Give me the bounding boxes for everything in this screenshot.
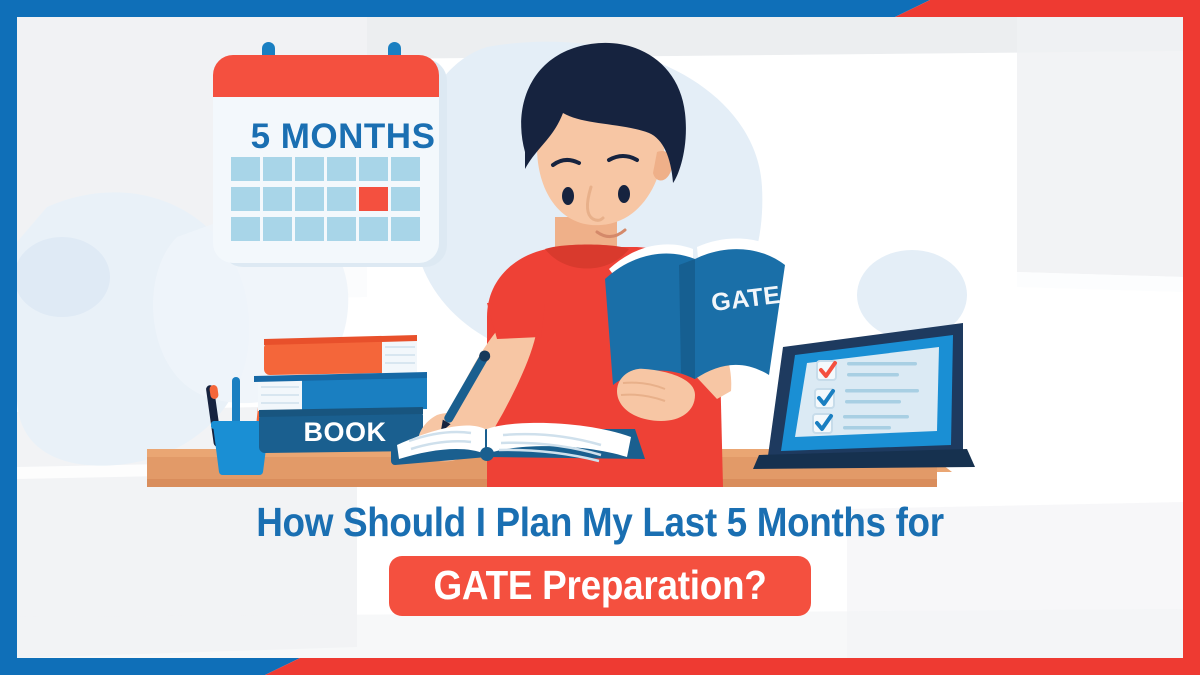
frame-bottom-blue bbox=[0, 658, 300, 675]
person-eye-right bbox=[618, 185, 630, 203]
calendar-highlight-cell bbox=[359, 187, 388, 211]
person-left-sleeve bbox=[487, 303, 545, 339]
hero-illustration bbox=[17, 17, 1183, 487]
headline-line-1: How Should I Plan My Last 5 Months for bbox=[75, 498, 1124, 546]
headline-block: How Should I Plan My Last 5 Months for G… bbox=[17, 498, 1183, 616]
frame-bottom-red bbox=[265, 658, 1200, 675]
frame-top-blue bbox=[0, 0, 930, 17]
banner-root: 5 MONTHS BOOK GATE How Should I Plan My … bbox=[0, 0, 1200, 675]
headline-line-2: GATE Preparation? bbox=[433, 563, 766, 607]
calendar-header bbox=[213, 55, 439, 97]
laptop bbox=[753, 323, 975, 469]
illustration-stage: 5 MONTHS BOOK GATE bbox=[17, 17, 1183, 487]
frame-left-blue bbox=[0, 0, 17, 675]
calendar-caption: 5 MONTHS bbox=[231, 117, 455, 157]
person-eye-left bbox=[562, 187, 574, 205]
headline-badge: GATE Preparation? bbox=[389, 556, 811, 616]
frame-top-red bbox=[895, 0, 1200, 17]
notebook-spine-dot bbox=[480, 447, 494, 461]
background-blob-oval-left bbox=[17, 237, 110, 317]
frame-right-red bbox=[1183, 0, 1200, 675]
book-stack-label: BOOK bbox=[265, 417, 425, 448]
